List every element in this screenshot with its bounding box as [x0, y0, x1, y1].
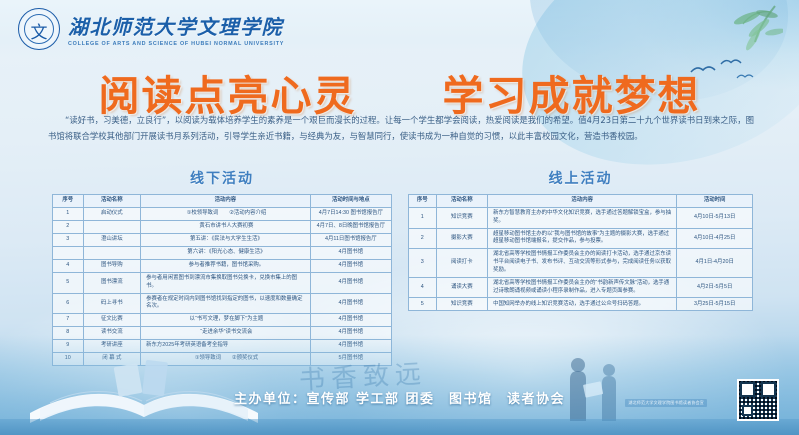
table-header-row: 序号 活动名称 活动内容 活动时间与地点 — [53, 195, 392, 208]
cell-activity-when: 3月25日-5月15日 — [677, 298, 753, 311]
column-header-content: 活动内容 — [488, 195, 677, 208]
cell-no: 1 — [409, 208, 437, 229]
bottom-edge-band — [0, 419, 799, 435]
cell-activity-name: 知识竞赛 — [436, 208, 488, 229]
cell-activity-name: 图书漂流 — [83, 273, 141, 294]
column-header-name: 活动名称 — [436, 195, 488, 208]
cell-no: 2 — [409, 228, 437, 249]
cell-activity-content: 以“书写文理，梦在脚下”为主题 — [141, 314, 311, 327]
cell-no: 3 — [53, 234, 84, 247]
table-row: 4诵读大赛湖北省高等学校图书情报工作委员会主办的“书韵新声传文脉”活动，选手通过… — [409, 277, 753, 298]
table-row: 4图书导购参与者推荐书籍，图书馆采购。4月图书馆 — [53, 260, 392, 273]
cell-activity-content: 中国知网举办的线上知识竞赛活动，选手通过公众号扫码答题。 — [488, 298, 677, 311]
cell-activity-content: 第五讲：《民法与大学生生活》 — [141, 234, 311, 247]
cell-activity-name: 知识竞赛 — [436, 298, 488, 311]
column-header-content: 活动内容 — [141, 195, 311, 208]
cell-activity-when: 4月图书馆 — [310, 247, 391, 260]
cell-activity-name: 码上寻书 — [83, 293, 141, 314]
cell-activity-name: 读书交流 — [83, 327, 141, 340]
cell-activity-content: 湖北省高等学校图书情报工作委员会主办的“书韵新声传文脉”活动，选手通过诗歌朗诵视… — [488, 277, 677, 298]
footer-note: 湖北师范大学文理学院图书馆读者协会宣 — [625, 399, 707, 407]
qr-code-pattern — [739, 381, 777, 419]
cell-activity-content: 湖北省高等学校图书情报工作委员会主办的阅读打卡活动，选手通过京东读书平台阅读电子… — [488, 249, 677, 277]
table-row: 10闭 幕 式①领导致词 ②颁奖仪式5月图书馆 — [53, 353, 392, 366]
cell-activity-content: ①领导致词 ②颁奖仪式 — [141, 353, 311, 366]
cell-activity-content: “走进余华”读书交流会 — [141, 327, 311, 340]
table-row: 第六讲：《阳光心态、健康生活》4月图书馆 — [53, 247, 392, 260]
seal-glyph: 文 — [19, 18, 59, 43]
table-row: 3阅读打卡湖北省高等学校图书情报工作委员会主办的阅读打卡活动，选手通过京东读书平… — [409, 249, 753, 277]
table-row: 1知识竞赛新东方智慧教育主办的中华文化知识竞赛，选手通过答题解锁宝盒，参与抽奖。… — [409, 208, 753, 229]
column-header-no: 序号 — [409, 195, 437, 208]
cell-activity-content: 参与者用闲置图书到漂流市集换取图书兑换卡，兑换市集上的图书。 — [141, 273, 311, 294]
cell-activity-name: 图书导购 — [83, 260, 141, 273]
cell-activity-when: 4月10日-5月13日 — [677, 208, 753, 229]
column-header-no: 序号 — [53, 195, 84, 208]
table-row: 3澄山讲坛第五讲：《民法与大学生生活》4月11日图书馆报告厅 — [53, 234, 392, 247]
school-name-en: COLLEGE OF ARTS AND SCIENCE OF HUBEI NOR… — [68, 41, 284, 47]
offline-activities-panel: 线下活动 序号 活动名称 活动内容 活动时间与地点 1启动仪式①校领导致词 ②活… — [52, 168, 392, 366]
school-name-cn: 湖北师范大学文理学院 — [68, 11, 284, 40]
cell-activity-content: ①校领导致词 ②活动内容介绍 — [141, 208, 311, 221]
cell-activity-content: 第六讲：《阳光心态、健康生活》 — [141, 247, 311, 260]
table-row: 5知识竞赛中国知网举办的线上知识竞赛活动，选手通过公众号扫码答题。3月25日-5… — [409, 298, 753, 311]
cell-activity-name: 摄影大赛 — [436, 228, 488, 249]
cell-no: 5 — [53, 273, 84, 294]
table-header-row: 序号 活动名称 活动内容 活动时间 — [409, 195, 753, 208]
cell-activity-content: 超星移动图书馆主办的以“我与图书馆的故事”为主题的摄影大赛，选手通过超星移动图书… — [488, 228, 677, 249]
intro-paragraph: “读好书，习美德，立良行”，以阅读为载体培养学生的素养是一个艰巨而漫长的过程。让… — [48, 112, 754, 144]
cell-activity-content: 新东方2025年考研英语备考全指导 — [141, 340, 311, 353]
table-row: 1启动仪式①校领导致词 ②活动内容介绍4月7日14:30 图书馆报告厅 — [53, 208, 392, 221]
cell-activity-when: 4月7日、8日晚图书馆报告厅 — [310, 221, 391, 234]
cell-no — [53, 247, 84, 260]
cell-activity-name — [83, 221, 141, 234]
cell-activity-name — [83, 247, 141, 260]
cell-activity-name: 阅读打卡 — [436, 249, 488, 277]
school-name-block: 湖北师范大学文理学院 COLLEGE OF ARTS AND SCIENCE O… — [68, 11, 284, 47]
offline-section-title: 线下活动 — [52, 168, 392, 188]
cell-activity-when: 4月图书馆 — [310, 340, 391, 353]
qr-finder-bottom-left — [742, 405, 753, 416]
cell-activity-name: 征文比赛 — [83, 314, 141, 327]
reader-silhouettes-illustration — [540, 349, 660, 421]
qr-code[interactable] — [737, 379, 779, 421]
cell-activity-when: 4月7日14:30 图书馆报告厅 — [310, 208, 391, 221]
online-section-title: 线上活动 — [408, 168, 753, 188]
cell-activity-content: 黄石市讲书人大赛初赛 — [141, 221, 311, 234]
table-row: 8读书交流“走进余华”读书交流会4月图书馆 — [53, 327, 392, 340]
cell-no: 4 — [53, 260, 84, 273]
column-header-when: 活动时间与地点 — [310, 195, 391, 208]
table-row: 2摄影大赛超星移动图书馆主办的以“我与图书馆的故事”为主题的摄影大赛，选手通过超… — [409, 228, 753, 249]
cell-activity-when: 5月图书馆 — [310, 353, 391, 366]
cell-activity-content: 参与者推荐书籍，图书馆采购。 — [141, 260, 311, 273]
cell-no: 5 — [409, 298, 437, 311]
table-row: 7征文比赛以“书写文理，梦在脚下”为主题4月图书馆 — [53, 314, 392, 327]
column-header-when: 活动时间 — [677, 195, 753, 208]
cell-no: 10 — [53, 353, 84, 366]
cell-no: 6 — [53, 293, 84, 314]
cell-activity-when: 4月1日-4月20日 — [677, 249, 753, 277]
cell-activity-when: 4月图书馆 — [310, 314, 391, 327]
table-row: 9考研讲座新东方2025年考研英语备考全指导4月图书馆 — [53, 340, 392, 353]
table-row: 2黄石市讲书人大赛初赛4月7日、8日晚图书馆报告厅 — [53, 221, 392, 234]
cell-activity-content: 新东方智慧教育主办的中华文化知识竞赛，选手通过答题解锁宝盒，参与抽奖。 — [488, 208, 677, 229]
online-activities-table: 序号 活动名称 活动内容 活动时间 1知识竞赛新东方智慧教育主办的中华文化知识竞… — [408, 194, 753, 311]
cell-activity-when: 4月图书馆 — [310, 260, 391, 273]
cell-no: 3 — [409, 249, 437, 277]
table-row: 5图书漂流参与者用闲置图书到漂流市集换取图书兑换卡，兑换市集上的图书。4月图书馆 — [53, 273, 392, 294]
university-seal-logo: 文 — [18, 8, 60, 50]
cell-activity-when: 4月10日-4月25日 — [677, 228, 753, 249]
cell-activity-name: 澄山讲坛 — [83, 234, 141, 247]
cell-no: 2 — [53, 221, 84, 234]
cell-no: 4 — [409, 277, 437, 298]
cell-activity-when: 4月图书馆 — [310, 327, 391, 340]
poster-canvas: 文 湖北师范大学文理学院 COLLEGE OF ARTS AND SCIENCE… — [0, 0, 799, 435]
brand-header: 文 湖北师范大学文理学院 COLLEGE OF ARTS AND SCIENCE… — [18, 8, 284, 50]
table-row: 6码上寻书参赛者在规定时间内到图书馆找到指定的图书，以速度和数量确定名次。4月图… — [53, 293, 392, 314]
cell-no: 7 — [53, 314, 84, 327]
cell-activity-when: 4月图书馆 — [310, 293, 391, 314]
cell-no: 8 — [53, 327, 84, 340]
cell-activity-name: 诵读大赛 — [436, 277, 488, 298]
cell-activity-name: 闭 幕 式 — [83, 353, 141, 366]
cell-activity-name: 考研讲座 — [83, 340, 141, 353]
cell-activity-when: 4月2日-5月5日 — [677, 277, 753, 298]
online-activities-panel: 线上活动 序号 活动名称 活动内容 活动时间 1知识竞赛新东方智慧教育主办的中华… — [408, 168, 753, 311]
offline-activities-table: 序号 活动名称 活动内容 活动时间与地点 1启动仪式①校领导致词 ②活动内容介绍… — [52, 194, 392, 366]
cell-activity-name: 启动仪式 — [83, 208, 141, 221]
cell-activity-when: 4月11日图书馆报告厅 — [310, 234, 391, 247]
cell-no: 9 — [53, 340, 84, 353]
cell-no: 1 — [53, 208, 84, 221]
cell-activity-when: 4月图书馆 — [310, 273, 391, 294]
column-header-name: 活动名称 — [83, 195, 141, 208]
cell-activity-content: 参赛者在规定时间内到图书馆找到指定的图书，以速度和数量确定名次。 — [141, 293, 311, 314]
